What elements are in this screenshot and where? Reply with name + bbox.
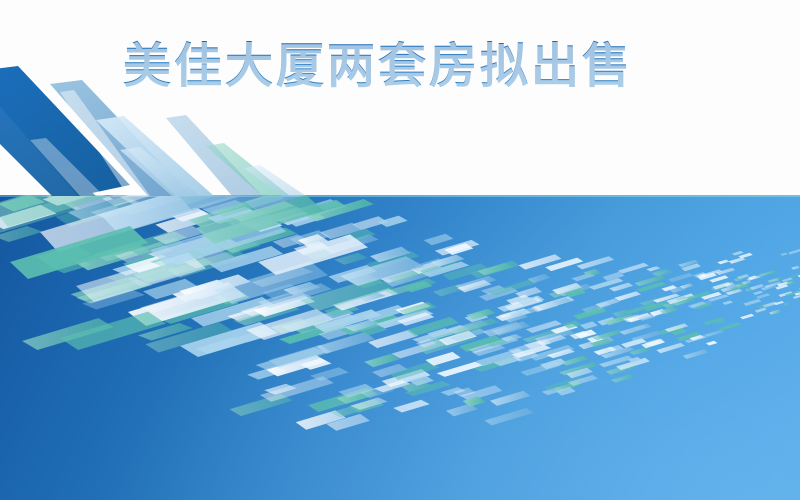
page-title: 美佳大厦两套房拟出售 <box>0 26 800 96</box>
panel-divider-line <box>0 195 800 197</box>
blue-gradient-panel <box>0 195 800 500</box>
banner-graphic: 美佳大厦两套房拟出售 <box>0 0 800 500</box>
